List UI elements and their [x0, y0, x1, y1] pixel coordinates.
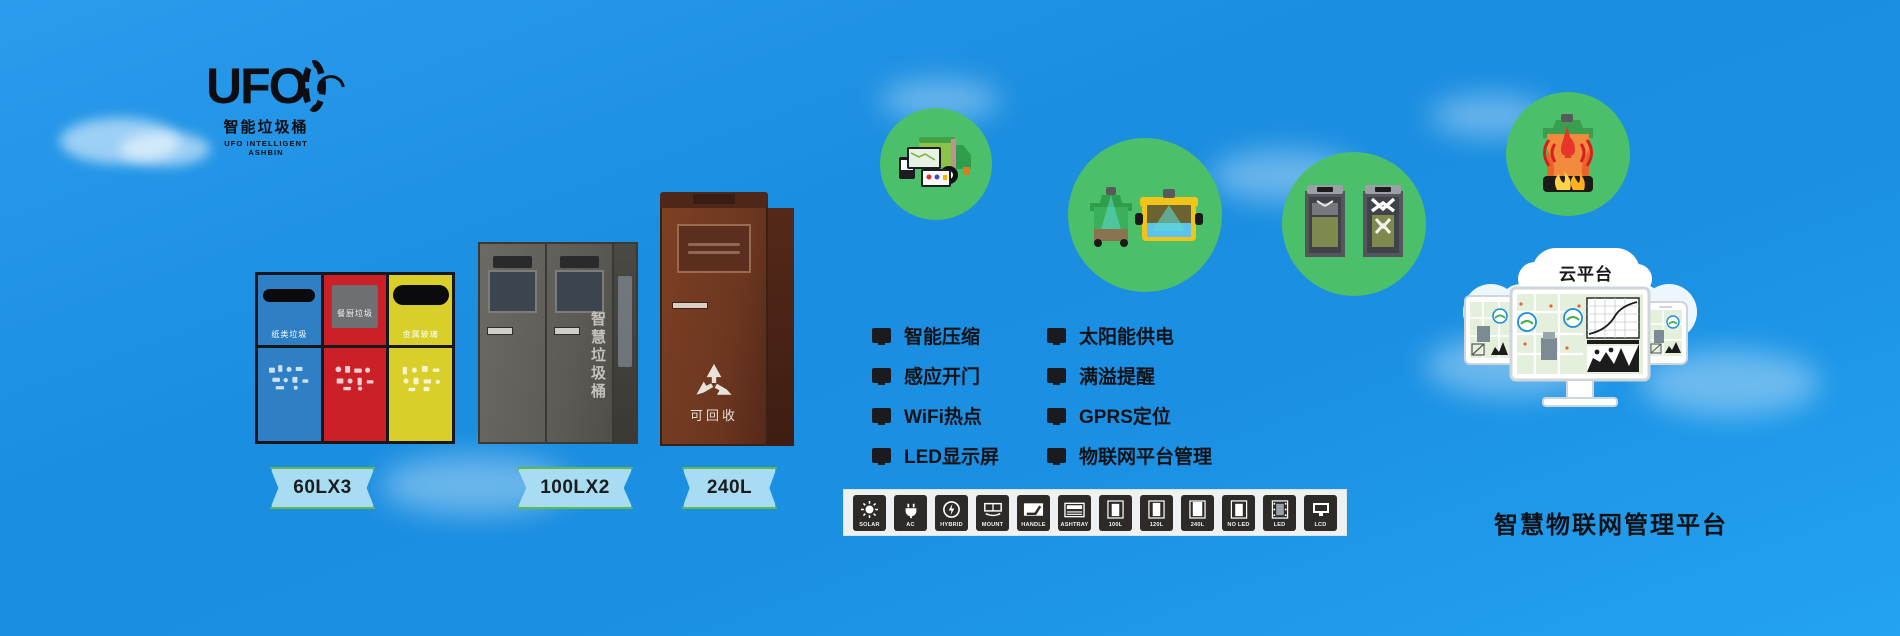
feature-label: 感应开门	[904, 362, 980, 389]
capacity-badge-240l: 240L	[682, 467, 777, 509]
bin-frame: 纸类垃圾 餐	[255, 272, 455, 444]
bin-opening-slot	[393, 285, 449, 305]
plug-icon	[894, 498, 927, 522]
bin-100l-icon	[1099, 498, 1132, 522]
cloud-decoration	[60, 118, 180, 164]
product-smart-double-bin: 智慧垃圾桶	[478, 242, 638, 444]
bin-bottom-panel	[258, 348, 321, 441]
feature-item: 太阳能供电	[1047, 322, 1212, 349]
cloud-decoration	[120, 132, 210, 166]
spec-icon-label: 120L	[1150, 522, 1164, 531]
bin-card-reader	[554, 327, 580, 335]
bin-side-strip	[618, 276, 632, 367]
feature-column-left: 智能压缩 感应开门 WiFi热点 LED显示屏	[872, 322, 999, 469]
spec-icon-solar: SOLAR	[853, 495, 886, 531]
feature-label: GPRS定位	[1079, 402, 1171, 429]
monitor-bullet-icon	[1047, 448, 1066, 463]
bin-side-panel	[614, 244, 636, 442]
logo-wordmark: UFO	[206, 58, 326, 114]
feature-item: LED显示屏	[872, 442, 999, 469]
bin-led-banner	[493, 256, 532, 268]
spec-icon-label: 100L	[1109, 522, 1123, 531]
capacity-badge-60l: 60LX3	[270, 467, 375, 509]
fire-alarm-icon	[1525, 110, 1611, 198]
spec-icon-led: LED	[1263, 495, 1296, 531]
spec-icon-ac: AC	[894, 495, 927, 531]
bin-display-screen	[488, 270, 537, 314]
compression-bin-icon	[1301, 181, 1407, 267]
bin-body: 可回收	[660, 198, 768, 446]
spec-icon-label: HANDLE	[1021, 522, 1046, 531]
led-icon	[1263, 498, 1296, 522]
spec-icon-240l: 240L	[1181, 495, 1214, 531]
feature-circle-art	[1282, 152, 1426, 296]
bin-unit: 智慧垃圾桶	[547, 244, 614, 442]
litter-graphic-icon	[264, 361, 314, 394]
bin-compartment-label: 金属玻璃	[389, 329, 452, 340]
banner-stage: UFO 智能垃圾桶 UFO INTELLIGENT ASHBIN 纸类垃圾	[0, 0, 1900, 636]
monitor-bullet-icon	[872, 408, 891, 423]
spec-icon-label: AC	[906, 522, 914, 531]
bin-compartment: 金属玻璃	[389, 275, 452, 441]
spec-icon-handle: HANDLE	[1017, 495, 1050, 531]
spec-icon-label: LCD	[1314, 522, 1326, 531]
fill-sensor-icon	[1082, 175, 1208, 255]
bin-top-panel: 金属玻璃	[389, 275, 452, 348]
bin-card-reader	[672, 302, 707, 308]
feature-circle-art	[1506, 92, 1630, 216]
spec-icon-label: NO LED	[1227, 522, 1249, 531]
bin-card-reader	[487, 327, 513, 335]
bin-display-window	[332, 285, 378, 328]
bin-lid-buttons	[693, 194, 735, 204]
spec-icon-hybrid: HYBRID	[935, 495, 968, 531]
logo-ring-icon	[302, 60, 326, 112]
bin-compartment: 纸类垃圾	[258, 275, 324, 441]
product-brown-recycle-bin: 可回收	[660, 198, 768, 446]
capacity-badge-label: 240L	[707, 477, 752, 499]
handle-icon	[1017, 498, 1050, 522]
spec-icon-label: 240L	[1191, 522, 1205, 531]
bin-bottom-panel	[324, 348, 387, 441]
capacity-badge-label: 60LX3	[293, 477, 351, 499]
bin-vertical-label: 智慧垃圾桶	[587, 311, 608, 401]
bin-120l-icon	[1140, 498, 1173, 522]
bin-compartment-label: 纸类垃圾	[258, 329, 321, 340]
capacity-badge-100l: 100LX2	[517, 467, 633, 509]
feature-item: WiFi热点	[872, 402, 999, 429]
screen-text-line	[688, 251, 739, 254]
screen-text-line	[688, 243, 739, 246]
feature-label: LED显示屏	[904, 442, 999, 469]
bin-opening-slot	[263, 289, 315, 302]
feature-item: 感应开门	[872, 362, 999, 389]
sun-icon	[853, 498, 886, 522]
spec-icon-label: LED	[1274, 522, 1286, 531]
bin-top-panel: 餐厨垃圾	[324, 275, 387, 348]
monitor-bullet-icon	[1047, 408, 1066, 423]
spec-icon-100l: 100L	[1099, 495, 1132, 531]
spec-icon-mount: MOUNT	[976, 495, 1009, 531]
feature-circle-fleet-management	[880, 108, 992, 220]
platform-title: 智慧物联网管理平台	[1466, 505, 1756, 540]
spec-icon-lcd: LCD	[1304, 495, 1337, 531]
feature-item: GPRS定位	[1047, 402, 1212, 429]
bin-compartment: 餐厨垃圾	[324, 275, 390, 441]
feature-circle-art	[1068, 138, 1222, 292]
logo-chinese-name: 智能垃圾桶	[206, 116, 326, 137]
bin-display-screen	[677, 224, 752, 273]
recycle-symbol-icon	[690, 361, 738, 405]
brand-logo: UFO 智能垃圾桶 UFO INTELLIGENT ASHBIN	[206, 58, 326, 150]
mount-icon	[976, 498, 1009, 522]
spec-icon-label: HYBRID	[940, 522, 963, 531]
bin-bottom-panel	[389, 348, 452, 441]
bin-body: 智慧垃圾桶	[478, 242, 638, 444]
feature-item: 物联网平台管理	[1047, 442, 1212, 469]
feature-circle-waste-compression	[1282, 152, 1426, 296]
spec-icon-no-led: NO LED	[1222, 495, 1255, 531]
feature-circle-fill-level-sensing	[1068, 138, 1222, 292]
feature-label: 太阳能供电	[1079, 322, 1174, 349]
logo-english-name: UFO INTELLIGENT ASHBIN	[206, 139, 326, 157]
bin-top-panel: 纸类垃圾	[258, 275, 321, 348]
feature-label: 满溢提醒	[1079, 362, 1155, 389]
feature-label: 智能压缩	[904, 322, 980, 349]
desktop-monitor	[1511, 288, 1649, 406]
feature-circle-fire-alarm	[1506, 92, 1630, 216]
spec-icon-label: ASHTRAY	[1061, 522, 1089, 531]
feature-list: 智能压缩 感应开门 WiFi热点 LED显示屏 太阳能供电 满溢提醒 GPRS定…	[872, 322, 1292, 469]
bin-240l-icon	[1181, 498, 1214, 522]
feature-item: 智能压缩	[872, 322, 999, 349]
monitor-bullet-icon	[1047, 328, 1066, 343]
bin-recycle-label: 可回收	[662, 405, 766, 424]
logo-ufo-text: UFO	[206, 60, 306, 112]
bin-side-face	[768, 208, 794, 446]
bin-led-banner	[560, 256, 599, 268]
feature-label: 物联网平台管理	[1079, 442, 1212, 469]
product-tri-sort-bin: 纸类垃圾 餐	[255, 272, 455, 444]
monitor-bullet-icon	[872, 448, 891, 463]
garbage-truck-icon	[893, 131, 979, 197]
phone-device	[1645, 302, 1687, 364]
monitor-bullet-icon	[1047, 368, 1066, 383]
monitor-bullet-icon	[872, 328, 891, 343]
spec-icon-strip: SOLAR AC HYBRID MOUNT HANDLE	[843, 489, 1347, 536]
spec-icon-label: MOUNT	[982, 522, 1004, 531]
litter-graphic-icon	[330, 361, 380, 394]
ashtray-icon	[1058, 498, 1091, 522]
cloud-platform-label: 云平台	[1559, 260, 1613, 285]
lcd-icon	[1304, 498, 1337, 522]
spec-icon-120l: 120L	[1140, 495, 1173, 531]
monitor-bullet-icon	[872, 368, 891, 383]
feature-item: 满溢提醒	[1047, 362, 1212, 389]
feature-column-right: 太阳能供电 满溢提醒 GPRS定位 物联网平台管理	[1047, 322, 1212, 469]
no-led-icon	[1222, 498, 1255, 522]
spec-icon-ashtray: ASHTRAY	[1058, 495, 1091, 531]
feature-circle-art	[880, 108, 992, 220]
tablet-device	[1465, 296, 1517, 364]
bin-unit	[480, 244, 547, 442]
bin-display-screen	[555, 270, 604, 314]
bin-compartment-label: 餐厨垃圾	[324, 308, 387, 319]
litter-graphic-icon	[396, 361, 446, 394]
capacity-badge-label: 100LX2	[540, 477, 610, 499]
hybrid-bolt-icon	[935, 498, 968, 522]
spec-icon-label: SOLAR	[859, 522, 880, 531]
feature-label: WiFi热点	[904, 402, 982, 429]
